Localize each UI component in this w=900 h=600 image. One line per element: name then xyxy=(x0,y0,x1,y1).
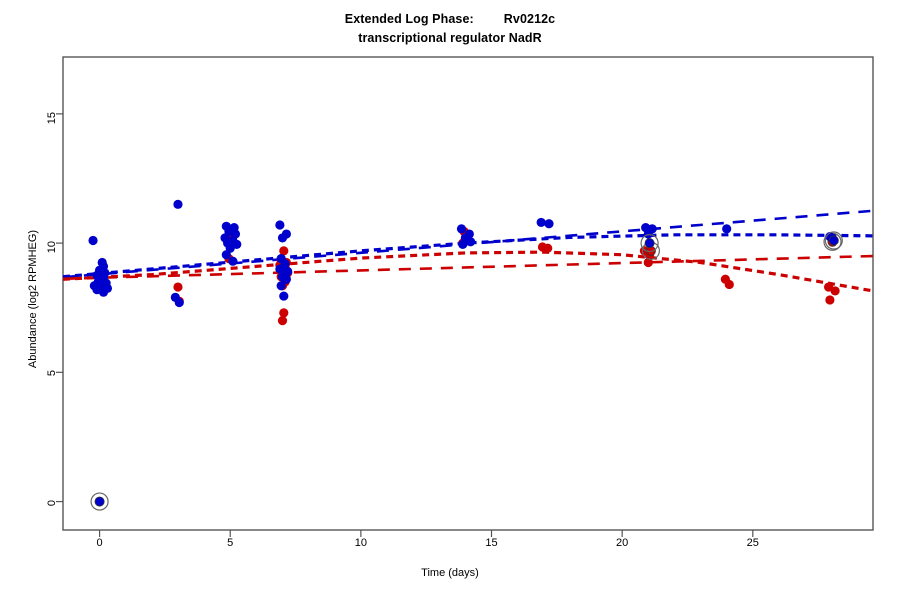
blue-data-point xyxy=(645,238,654,247)
trend-lines xyxy=(63,211,873,291)
blue-data-point xyxy=(277,281,286,290)
blue-data-point xyxy=(95,497,104,506)
red-data-point xyxy=(278,316,287,325)
blue-data-point xyxy=(722,224,731,233)
blue-data-point xyxy=(544,219,553,228)
blue-data-point xyxy=(279,291,288,300)
blue-data-point xyxy=(99,288,108,297)
y-axis-title: Abundance (log2 RPMHEG) xyxy=(27,159,39,439)
blue-data-point xyxy=(829,236,838,245)
x-tick-label: 0 xyxy=(80,537,120,549)
x-axis-title: Time (days) xyxy=(0,567,900,579)
plot-area xyxy=(0,0,900,600)
plot-frame xyxy=(63,57,873,530)
red-data-point xyxy=(725,280,734,289)
y-tick-label: 15 xyxy=(46,112,58,152)
y-tick-label: 10 xyxy=(46,241,58,281)
data-points xyxy=(88,200,842,510)
blue-data-point xyxy=(175,298,184,307)
x-tick-label: 15 xyxy=(472,537,512,549)
blue-data-point xyxy=(222,250,231,259)
blue-data-point xyxy=(457,224,466,233)
blue-data-point xyxy=(466,237,475,246)
x-tick-label: 10 xyxy=(341,537,381,549)
blue-data-point xyxy=(537,218,546,227)
red-dotted-curve xyxy=(63,252,873,291)
x-tick-label: 25 xyxy=(733,537,773,549)
blue-data-point xyxy=(458,240,467,249)
chart-screenshot: Extended Log Phase:Rv0212c transcription… xyxy=(0,0,900,600)
y-tick-label: 0 xyxy=(46,500,58,540)
red-data-point xyxy=(831,286,840,295)
blue-data-point xyxy=(278,233,287,242)
y-tick-label: 5 xyxy=(46,370,58,410)
red-data-point xyxy=(543,244,552,253)
red-data-point xyxy=(825,295,834,304)
blue-data-point xyxy=(173,200,182,209)
blue-data-point xyxy=(228,257,237,266)
blue-data-point xyxy=(275,220,284,229)
red-data-point xyxy=(279,308,288,317)
blue-data-point xyxy=(88,236,97,245)
red-data-point xyxy=(173,282,182,291)
blue-data-point xyxy=(644,229,653,238)
x-tick-label: 20 xyxy=(602,537,642,549)
x-tick-label: 5 xyxy=(210,537,250,549)
axis-tick-marks xyxy=(56,114,753,537)
